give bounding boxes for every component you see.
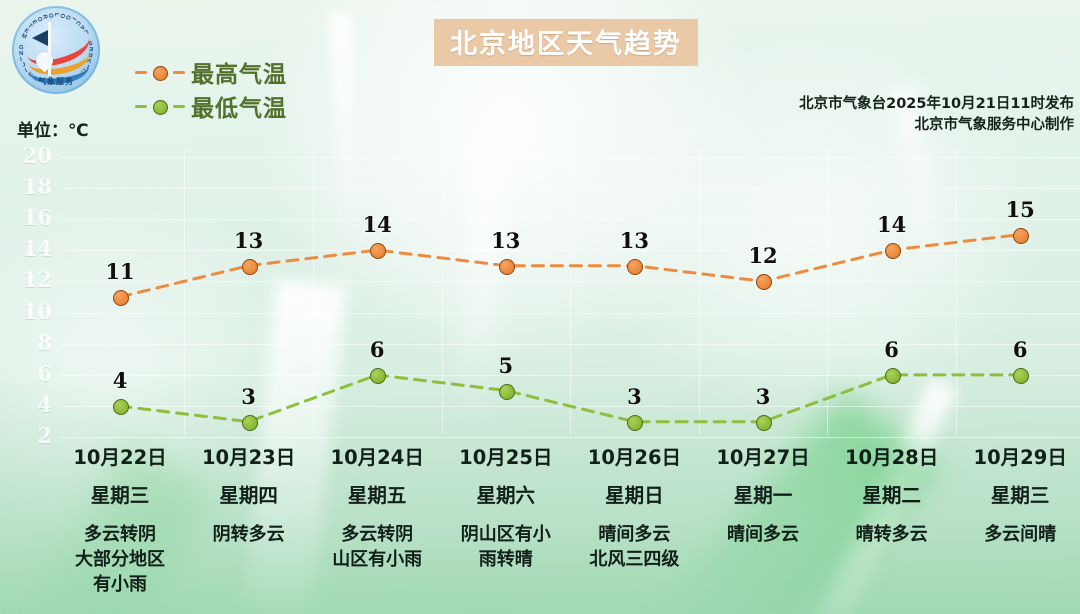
day-weekday: 星期日 [570,484,698,508]
gridline-horizontal [60,437,1080,438]
gridline-vertical [827,150,828,435]
day-column: 10月23日星期四阴转多云 [185,446,313,547]
value-label-high: 12 [748,243,777,268]
value-label-low: 3 [627,384,642,409]
value-label-high: 11 [105,259,134,284]
y-axis-tick-label: 18 [12,174,52,199]
y-axis-tick-label: 4 [12,392,52,417]
legend-item-low: 最低气温 [135,89,287,123]
value-label-low: 6 [1013,337,1028,362]
day-weekday: 星期四 [185,484,313,508]
day-condition: 阴山区有小 雨转晴 [442,522,570,572]
legend-label-low: 最低气温 [191,89,287,123]
y-axis-tick-label: 14 [12,236,52,261]
value-label-low: 5 [498,353,513,378]
day-condition: 多云间晴 [956,522,1080,547]
day-date: 10月28日 [828,446,956,470]
value-label-low: 6 [370,337,385,362]
day-date: 10月26日 [570,446,698,470]
y-axis-tick-label: 2 [12,423,52,448]
y-axis-tick-label: 20 [12,143,52,168]
data-point-low[interactable] [499,384,515,400]
day-date: 10月29日 [956,446,1080,470]
logo-flag-icon [32,30,48,46]
data-point-high[interactable] [242,259,258,275]
data-point-low[interactable] [113,399,129,415]
day-column: 10月25日星期六阴山区有小 雨转晴 [442,446,570,572]
value-label-high: 14 [877,212,906,237]
gridline-vertical [956,150,957,435]
day-date: 10月22日 [56,446,184,470]
value-label-high: 13 [620,228,649,253]
publisher-line-1: 北京市气象台2025年10月21日11时发布 [799,94,1074,115]
value-label-high: 13 [491,228,520,253]
legend-marker-low-icon [135,97,187,115]
gridline-vertical [699,150,700,435]
day-condition: 阴转多云 [185,522,313,547]
value-label-low: 3 [756,384,771,409]
publisher-info: 北京市气象台2025年10月21日11时发布 北京市气象服务中心制作 [799,94,1074,136]
gridline-vertical [570,150,571,435]
beijing-meteorological-service-logo: BEIJING METEOROLOGICAL SERVICE 气象服务 [12,6,100,94]
day-column: 10月26日星期日晴间多云 北风三四级 [570,446,698,572]
data-point-low[interactable] [627,415,643,431]
data-point-low[interactable] [1013,368,1029,384]
day-date: 10月23日 [185,446,313,470]
legend-marker-high-icon [135,63,187,81]
unit-label: 单位：℃ [17,116,89,141]
day-column: 10月28日星期二晴转多云 [828,446,956,547]
day-weekday: 星期一 [699,484,827,508]
value-label-high: 13 [234,228,263,253]
day-date: 10月27日 [699,446,827,470]
data-point-low[interactable] [242,415,258,431]
publisher-line-2: 北京市气象服务中心制作 [799,115,1074,136]
value-label-high: 14 [363,212,392,237]
day-condition: 多云转阴 山区有小雨 [313,522,441,572]
value-label-low: 4 [113,368,128,393]
day-column: 10月24日星期五多云转阴 山区有小雨 [313,446,441,572]
weather-trend-infographic: BEIJING METEOROLOGICAL SERVICE 气象服务 北京地区… [0,0,1080,614]
day-condition: 晴间多云 北风三四级 [570,522,698,572]
day-condition: 晴转多云 [828,522,956,547]
day-column: 10月22日星期三多云转阴 大部分地区 有小雨 [56,446,184,597]
day-condition: 多云转阴 大部分地区 有小雨 [56,522,184,597]
day-weekday: 星期三 [956,484,1080,508]
day-column: 10月29日星期三多云间晴 [956,446,1080,547]
y-axis-tick-label: 16 [12,205,52,230]
legend-item-high: 最高气温 [135,55,287,89]
data-point-low[interactable] [370,368,386,384]
gridline-vertical [442,150,443,435]
value-label-low: 3 [241,384,256,409]
legend-label-high: 最高气温 [191,55,287,89]
data-point-high[interactable] [627,259,643,275]
data-point-high[interactable] [1013,228,1029,244]
day-weekday: 星期三 [56,484,184,508]
y-axis-tick-label: 8 [12,330,52,355]
chart-legend: 最高气温 最低气温 [135,55,287,123]
page-title: 北京地区天气趋势 [434,19,698,66]
gridline-vertical [313,150,314,435]
day-weekday: 星期五 [313,484,441,508]
logo-cn-label: 气象服务 [38,76,74,87]
data-point-low[interactable] [756,415,772,431]
day-date: 10月25日 [442,446,570,470]
y-axis-tick-label: 6 [12,361,52,386]
day-date: 10月24日 [313,446,441,470]
value-label-low: 6 [884,337,899,362]
day-column: 10月27日星期一晴间多云 [699,446,827,547]
day-condition: 晴间多云 [699,522,827,547]
gridline-vertical [184,150,185,435]
day-weekday: 星期六 [442,484,570,508]
value-label-high: 15 [1006,197,1035,222]
data-point-high[interactable] [113,290,129,306]
data-point-high[interactable] [499,259,515,275]
day-weekday: 星期二 [828,484,956,508]
y-axis-tick-label: 12 [12,267,52,292]
data-point-low[interactable] [885,368,901,384]
data-point-high[interactable] [885,243,901,259]
y-axis-tick-label: 10 [12,299,52,324]
